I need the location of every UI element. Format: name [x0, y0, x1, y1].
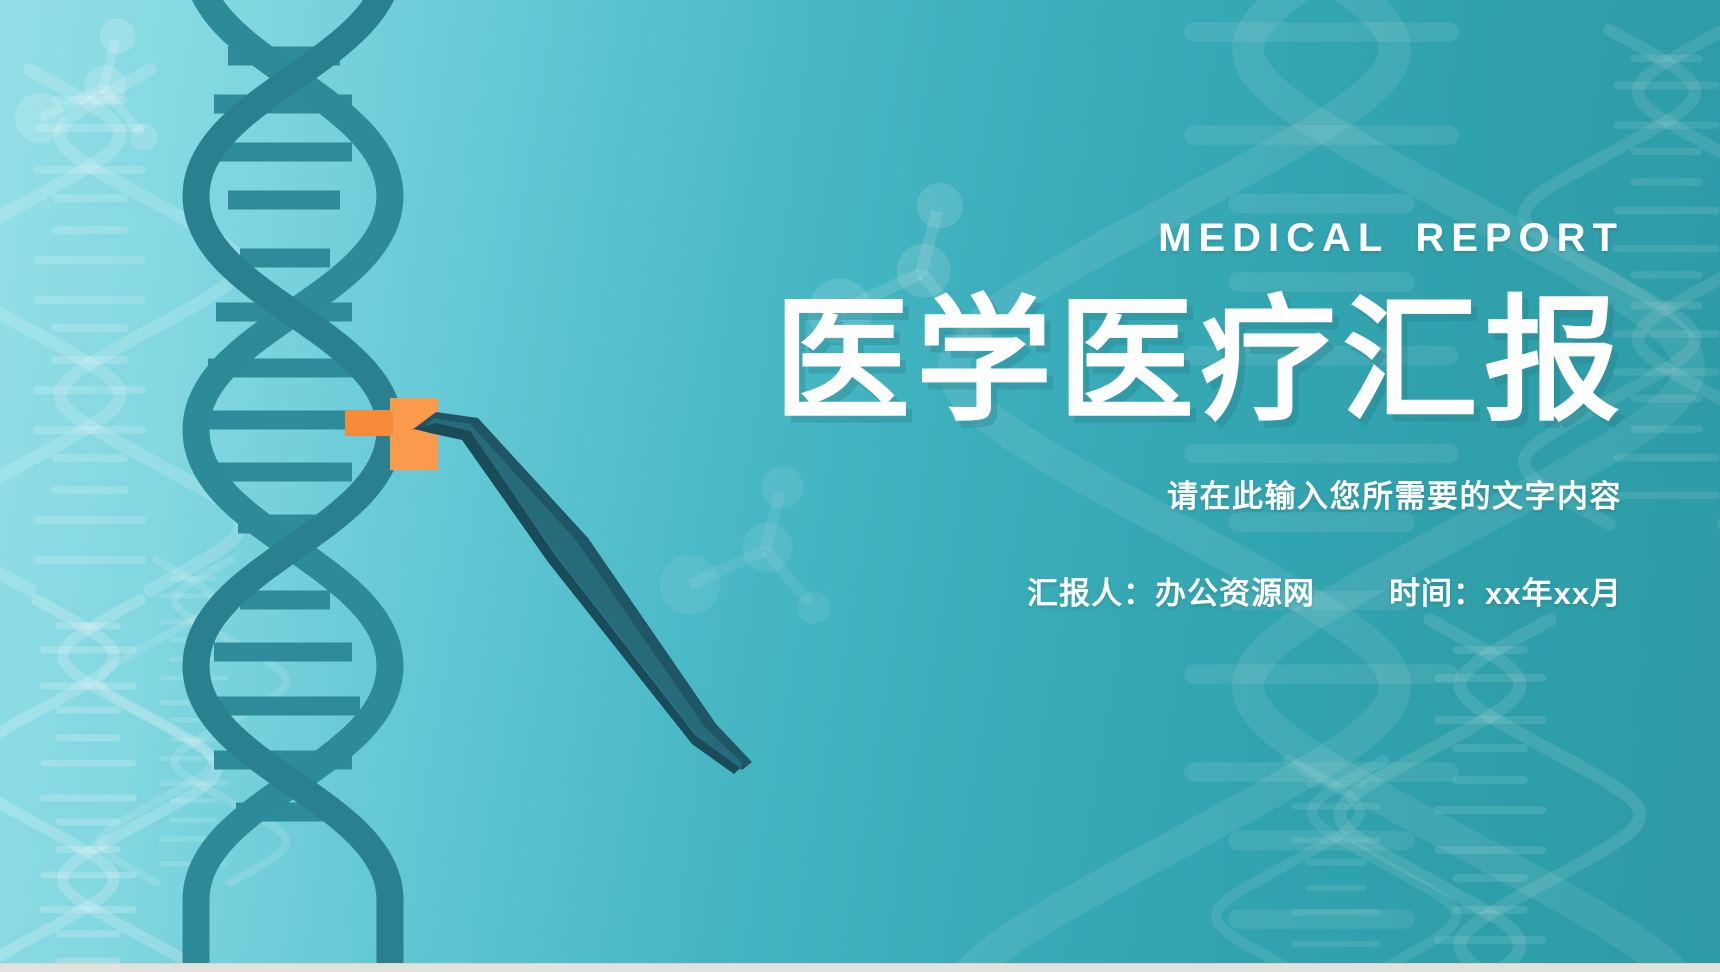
title-block: MEDICALREPORT 医学医疗汇报 请在此输入您所需要的文字内容 汇报人：… [748, 218, 1628, 613]
slide-canvas: MEDICALREPORT 医学医疗汇报 请在此输入您所需要的文字内容 汇报人：… [0, 0, 1720, 972]
dna-rungs [208, 56, 360, 812]
dna-helix-icon [196, 0, 390, 972]
eyebrow-word-1: MEDICAL [1158, 216, 1389, 260]
subtitle-text: 请在此输入您所需要的文字内容 [748, 471, 1628, 516]
meta-row: 汇报人：办公资源网时间：xx年xx月 [748, 568, 1628, 613]
eyebrow-word-2: REPORT [1415, 216, 1624, 260]
tweezers-icon [412, 412, 752, 774]
orange-gene-segment-icon [345, 398, 438, 470]
eyebrow-label: MEDICALREPORT [748, 218, 1628, 258]
date-label: 时间：xx年xx月 [1389, 576, 1622, 611]
page-title: 医学医疗汇报 [748, 292, 1628, 431]
presenter-label: 汇报人：办公资源网 [1027, 576, 1315, 611]
bottom-strip [0, 963, 1720, 972]
